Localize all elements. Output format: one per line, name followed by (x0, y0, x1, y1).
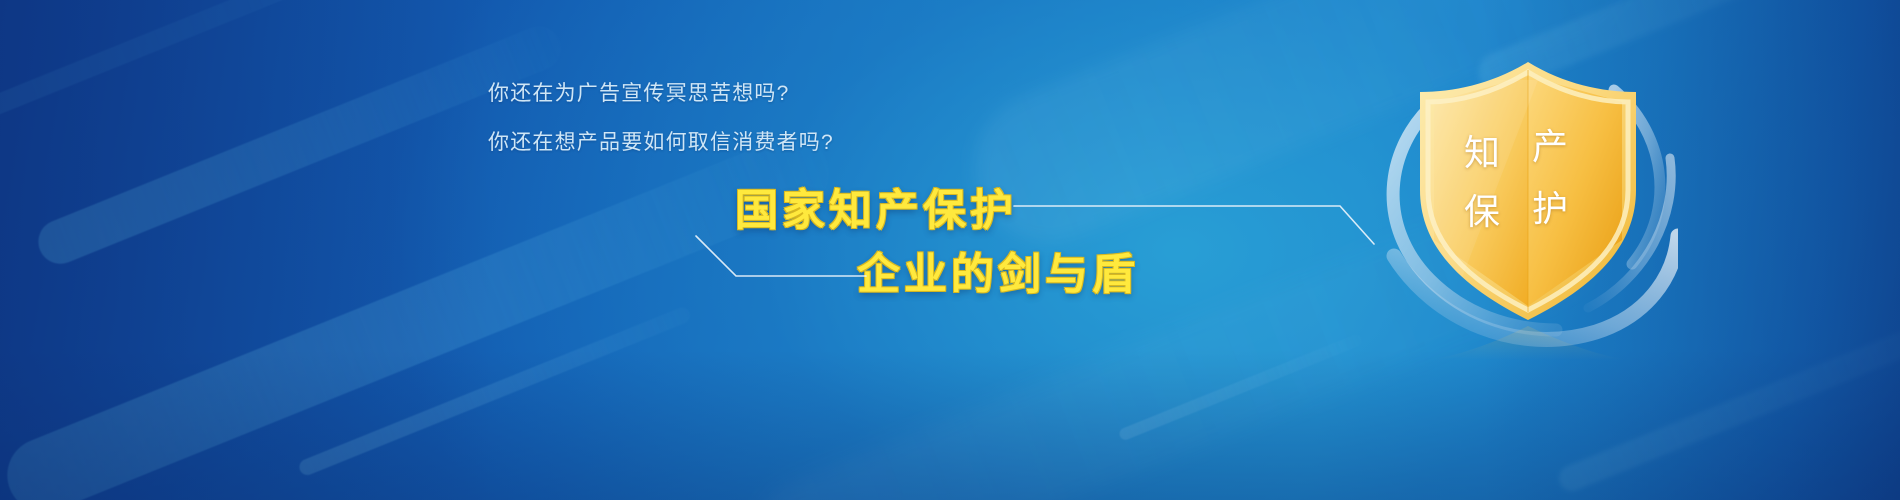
subhead-line-2: 你还在想产品要如何取信消费者吗? (488, 126, 834, 156)
subhead-line-1: 你还在为广告宣传冥思苦想吗? (488, 77, 789, 107)
copy-block: 你还在为广告宣传冥思苦想吗? 你还在想产品要如何取信消费者吗? 国家知产保护 企… (0, 0, 1150, 500)
shield-badge: 知 产 保 护 (1378, 40, 1678, 370)
bracket-rule-lower (690, 228, 870, 298)
promo-banner: 你还在为广告宣传冥思苦想吗? 你还在想产品要如何取信消费者吗? 国家知产保护 企… (0, 0, 1900, 500)
bracket-rule-upper (1010, 176, 1380, 256)
